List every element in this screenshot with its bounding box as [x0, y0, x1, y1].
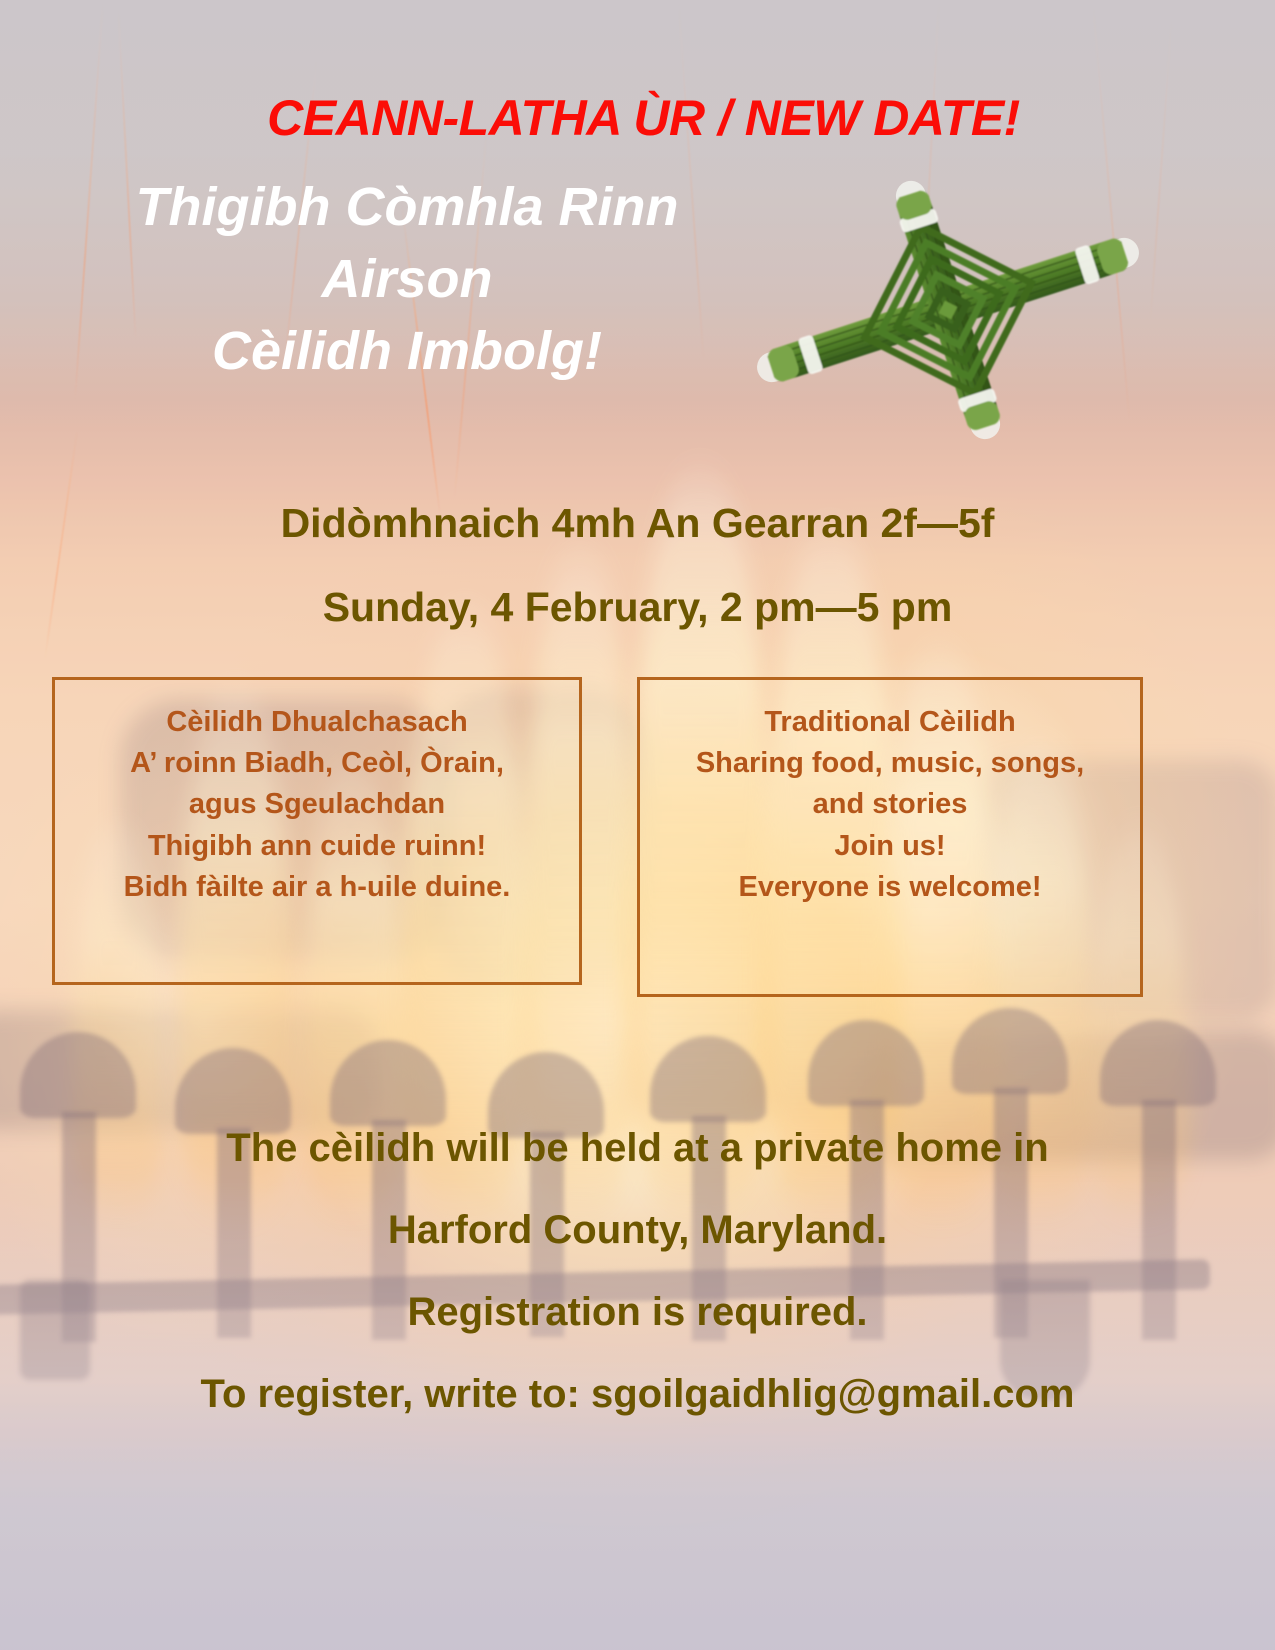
info-box-english: Traditional Cèilidh Sharing food, music,…	[637, 677, 1143, 997]
event-date-block: Didòmhnaich 4mh An Gearran 2f—5f Sunday,…	[0, 503, 1275, 628]
english-line-3: and stories	[640, 784, 1140, 825]
english-line-4: Join us!	[640, 826, 1140, 867]
gaelic-line-4: Thigibh ann cuide ruinn!	[55, 826, 579, 867]
invitation-heading: Thigibh Còmhla Rinn Airson Cèilidh Imbol…	[62, 172, 752, 387]
invitation-line-1: Thigibh Còmhla Rinn	[62, 172, 752, 244]
gaelic-line-5: Bidh fàilte air a h-uile duine.	[55, 867, 579, 908]
flyer-poster: CEANN-LATHA ÙR / NEW DATE! Thigibh Còmhl…	[0, 0, 1275, 1650]
info-boxes: Cèilidh Dhualchasach A’ roinn Biadh, Ceò…	[0, 677, 1275, 997]
new-date-headline: CEANN-LATHA ÙR / NEW DATE!	[0, 92, 1275, 145]
event-date-gaelic: Didòmhnaich 4mh An Gearran 2f—5f	[0, 503, 1275, 544]
registration-email: To register, write to: sgoilgaidhlig@gma…	[0, 1374, 1275, 1414]
gaelic-line-2: A’ roinn Biadh, Ceòl, Òrain,	[55, 743, 579, 784]
poster-content: CEANN-LATHA ÙR / NEW DATE! Thigibh Còmhl…	[0, 0, 1275, 1650]
invitation-line-2: Airson	[62, 244, 752, 316]
english-line-1: Traditional Cèilidh	[640, 702, 1140, 743]
venue-registration-block: The cèilidh will be held at a private ho…	[0, 1128, 1275, 1414]
venue-line-2: Harford County, Maryland.	[0, 1210, 1275, 1250]
english-line-2: Sharing food, music, songs,	[640, 743, 1140, 784]
english-line-5: Everyone is welcome!	[640, 867, 1140, 908]
gaelic-line-1: Cèilidh Dhualchasach	[55, 702, 579, 743]
brigids-cross-icon	[742, 168, 1154, 453]
venue-line-1: The cèilidh will be held at a private ho…	[0, 1128, 1275, 1168]
invitation-line-3: Cèilidh Imbolg!	[62, 316, 752, 388]
registration-notice: Registration is required.	[0, 1292, 1275, 1332]
gaelic-line-3: agus Sgeulachdan	[55, 784, 579, 825]
info-box-gaelic: Cèilidh Dhualchasach A’ roinn Biadh, Ceò…	[52, 677, 582, 985]
event-date-english: Sunday, 4 February, 2 pm—5 pm	[0, 587, 1275, 628]
